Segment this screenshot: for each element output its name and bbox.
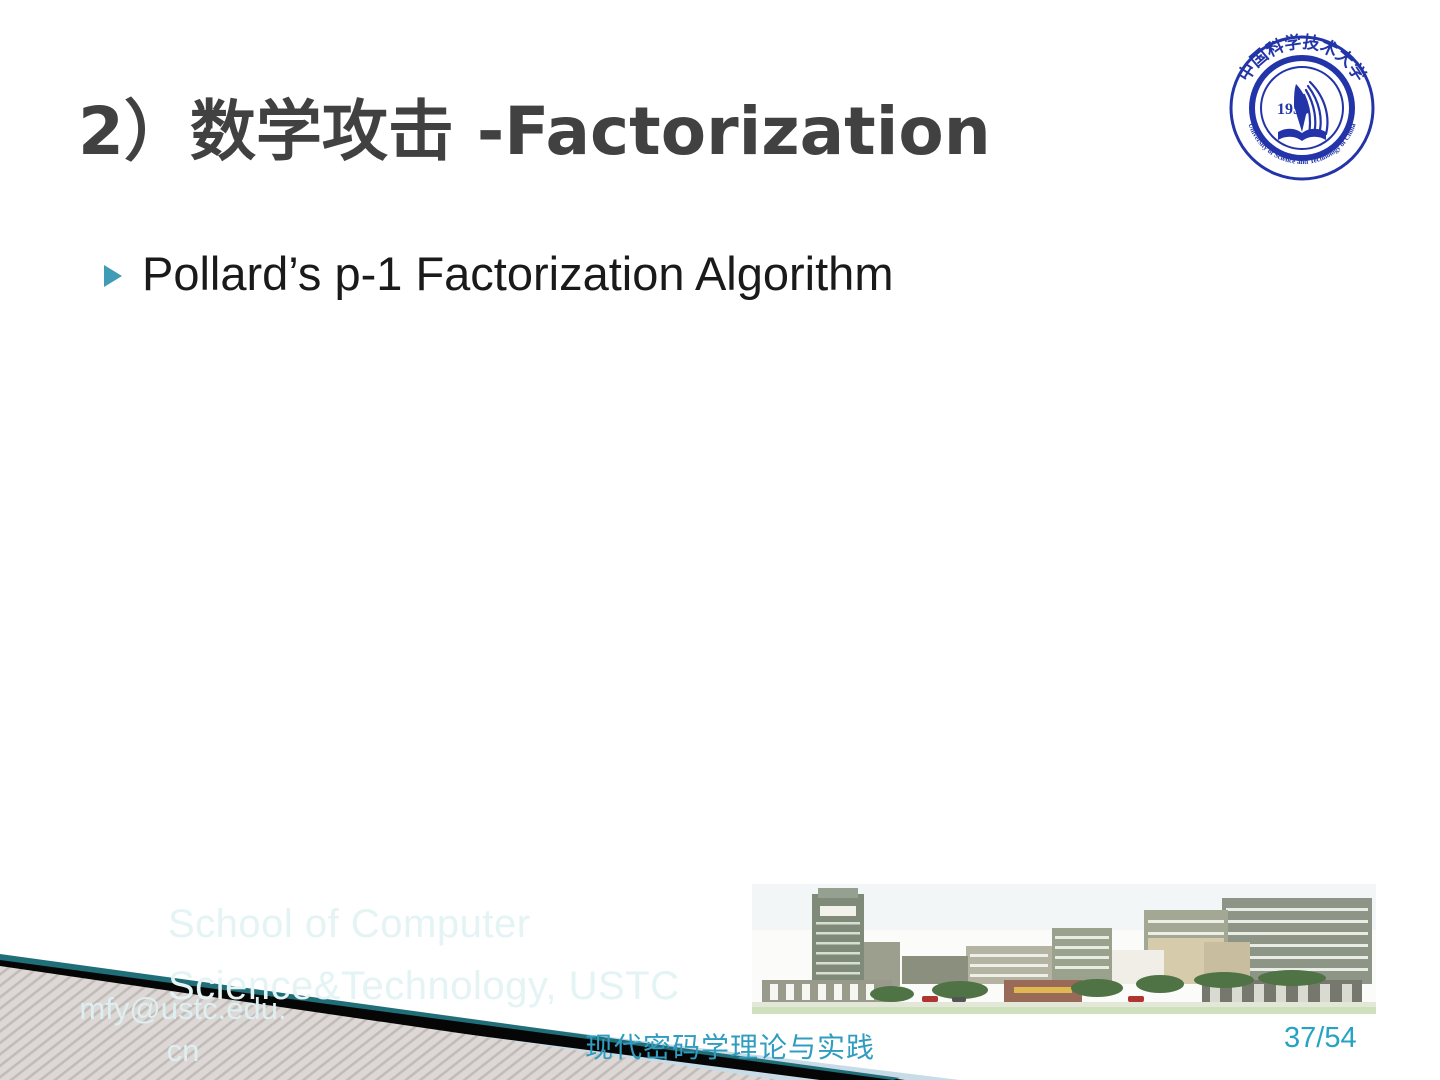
list-item: Pollard’s p-1 Factorization Algorithm: [104, 243, 1304, 305]
watermark-email: mfy@ustc.edu. cn: [58, 988, 308, 1072]
page-title: 2）数学攻击 -Factorization: [78, 84, 1178, 180]
watermark-email-line-2: cn: [58, 1030, 308, 1072]
ustc-logo-icon: 中国科学技术大学 University of Science and Techn…: [1222, 28, 1382, 188]
title-block: 2）数学攻击 -Factorization: [78, 84, 1178, 180]
body-content: Pollard’s p-1 Factorization Algorithm: [104, 243, 1304, 305]
bullet-text: Pollard’s p-1 Factorization Algorithm: [142, 243, 893, 305]
slide-canvas: 2）数学攻击 -Factorization 中国科学技术大学 Universit…: [0, 0, 1440, 1080]
watermark-email-line-1: mfy@ustc.edu.: [58, 988, 308, 1030]
ustc-logo: 中国科学技术大学 University of Science and Techn…: [1222, 28, 1382, 188]
campus-panorama-photo: [752, 884, 1376, 1014]
watermark-line-1: School of Computer: [168, 893, 788, 955]
page-number: 37/54: [1284, 1022, 1357, 1055]
logo-year-label: 1958: [1277, 101, 1309, 118]
campus-panorama-graphic: [752, 884, 1376, 1014]
triangle-bullet-icon: [104, 265, 122, 287]
footer-course-title: 现代密码学理论与实践: [585, 1026, 875, 1066]
